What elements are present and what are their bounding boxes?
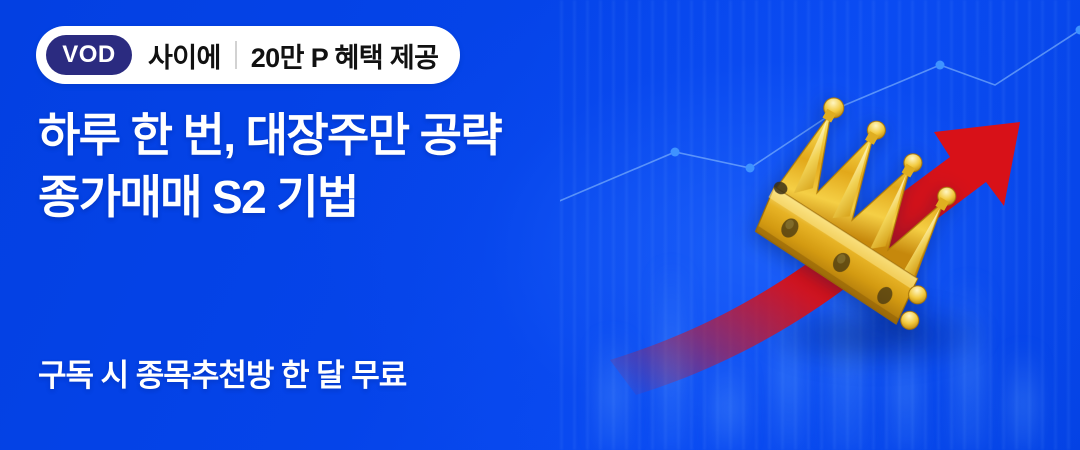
promo-banner: VOD 사이에 20만 P 혜택 제공 하루 한 번, 대장주만 공략 종가매매…	[0, 0, 1080, 450]
badge-text-secondary: 20만 P 혜택 제공	[251, 36, 439, 75]
badge-divider	[235, 41, 237, 69]
headline-line-2: 종가매매 S2 기법	[38, 166, 501, 228]
page-title: 하루 한 번, 대장주만 공략 종가매매 S2 기법	[38, 104, 501, 228]
headline-line-1: 하루 한 번, 대장주만 공략	[38, 104, 501, 166]
promo-subtext: 구독 시 종목추천방 한 달 무료	[38, 350, 406, 395]
badge-text-primary: 사이에	[148, 36, 221, 75]
vod-tag: VOD	[46, 35, 132, 75]
promo-badge[interactable]: VOD 사이에 20만 P 혜택 제공	[36, 26, 460, 84]
